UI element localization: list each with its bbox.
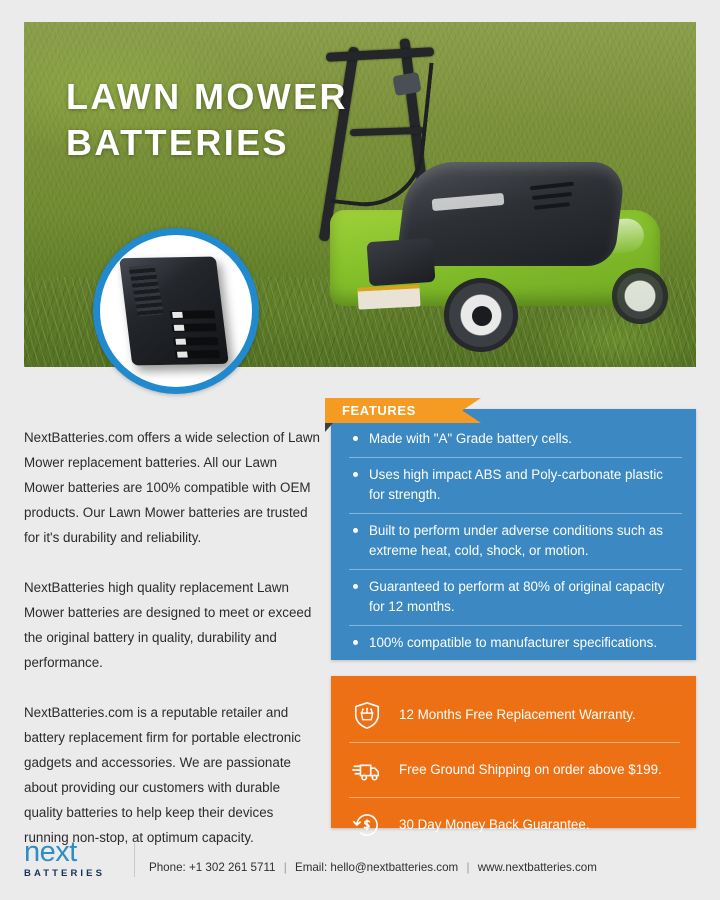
feature-text: Uses high impact ABS and Poly-carbonate … xyxy=(369,465,682,505)
guarantee-item: Free Ground Shipping on order above $199… xyxy=(349,742,680,797)
ribbon-fold-shadow xyxy=(325,423,333,432)
footer-contact: Phone: +1 302 261 5711 | Email: hello@ne… xyxy=(149,861,597,879)
battery-terminal xyxy=(172,324,217,333)
brand-logo: next BATTERIES xyxy=(24,838,128,879)
bullet-icon xyxy=(353,472,358,477)
feature-item: Guaranteed to perform at 80% of original… xyxy=(349,569,682,625)
bullet-icon xyxy=(353,436,358,441)
phone-label: Phone: xyxy=(149,861,186,874)
footer-divider xyxy=(134,843,135,877)
contact-separator: | xyxy=(461,861,474,874)
mower-wheel-rear xyxy=(612,268,668,324)
logo-wordmark: next xyxy=(24,838,128,867)
feature-item: 100% compatible to manufacturer specific… xyxy=(349,625,682,661)
phone-value: +1 302 261 5711 xyxy=(189,861,276,874)
email-value[interactable]: hello@nextbatteries.com xyxy=(330,861,458,874)
battery-pack-image xyxy=(119,257,229,366)
features-ribbon-label: FEATURES xyxy=(325,398,481,423)
mower-warning-label xyxy=(357,284,420,309)
feature-item: Uses high impact ABS and Poly-carbonate … xyxy=(349,457,682,513)
website-link[interactable]: www.nextbatteries.com xyxy=(478,861,597,874)
battery-terminals xyxy=(170,310,220,358)
shield-warranty-icon xyxy=(349,697,385,733)
contact-separator: | xyxy=(279,861,292,874)
guarantee-text: Free Ground Shipping on order above $199… xyxy=(399,760,662,780)
hero-title: LAWN MOWER BATTERIES xyxy=(66,74,348,166)
feature-text: 100% compatible to manufacturer specific… xyxy=(369,633,657,653)
mower-battery-box xyxy=(367,238,436,286)
battery-terminal xyxy=(173,337,218,346)
features-panel: Made with "A" Grade battery cells. Uses … xyxy=(331,409,696,660)
paragraph-1: NextBatteries.com offers a wide selectio… xyxy=(24,425,320,550)
guarantee-item: 12 Months Free Replacement Warranty. xyxy=(349,688,680,742)
feature-item: Made with "A" Grade battery cells. xyxy=(349,427,682,457)
feature-text: Built to perform under adverse condition… xyxy=(369,521,682,561)
battery-terminal xyxy=(170,310,215,319)
bullet-icon xyxy=(353,584,358,589)
bullet-icon xyxy=(353,528,358,533)
guarantee-text: 12 Months Free Replacement Warranty. xyxy=(399,705,636,725)
mower-wheel-hub xyxy=(472,306,492,326)
feature-text: Guaranteed to perform at 80% of original… xyxy=(369,577,682,617)
features-list: Made with "A" Grade battery cells. Uses … xyxy=(349,427,682,661)
paragraph-3: NextBatteries.com is a reputable retaile… xyxy=(24,700,320,850)
paragraph-2: NextBatteries high quality replacement L… xyxy=(24,575,320,675)
guarantees-panel: 12 Months Free Replacement Warranty. Fre… xyxy=(331,676,696,828)
body-copy: NextBatteries.com offers a wide selectio… xyxy=(24,425,320,850)
battery-ribs xyxy=(129,265,164,317)
bullet-icon xyxy=(353,640,358,645)
battery-product-circle xyxy=(93,228,259,394)
delivery-truck-icon xyxy=(349,752,385,788)
logo-subtitle: BATTERIES xyxy=(24,869,128,879)
footer: next BATTERIES Phone: +1 302 261 5711 | … xyxy=(24,838,696,879)
lawn-mower-illustration xyxy=(316,32,696,362)
flyer-page: LAWN MOWER BATTERIES NextBatteries.com o… xyxy=(0,0,720,900)
feature-item: Built to perform under adverse condition… xyxy=(349,513,682,569)
guarantee-text: 30 Day Money Back Guarantee. xyxy=(399,815,590,835)
feature-text: Made with "A" Grade battery cells. xyxy=(369,429,572,449)
battery-terminal xyxy=(175,350,220,359)
email-label: Email: xyxy=(295,861,327,874)
